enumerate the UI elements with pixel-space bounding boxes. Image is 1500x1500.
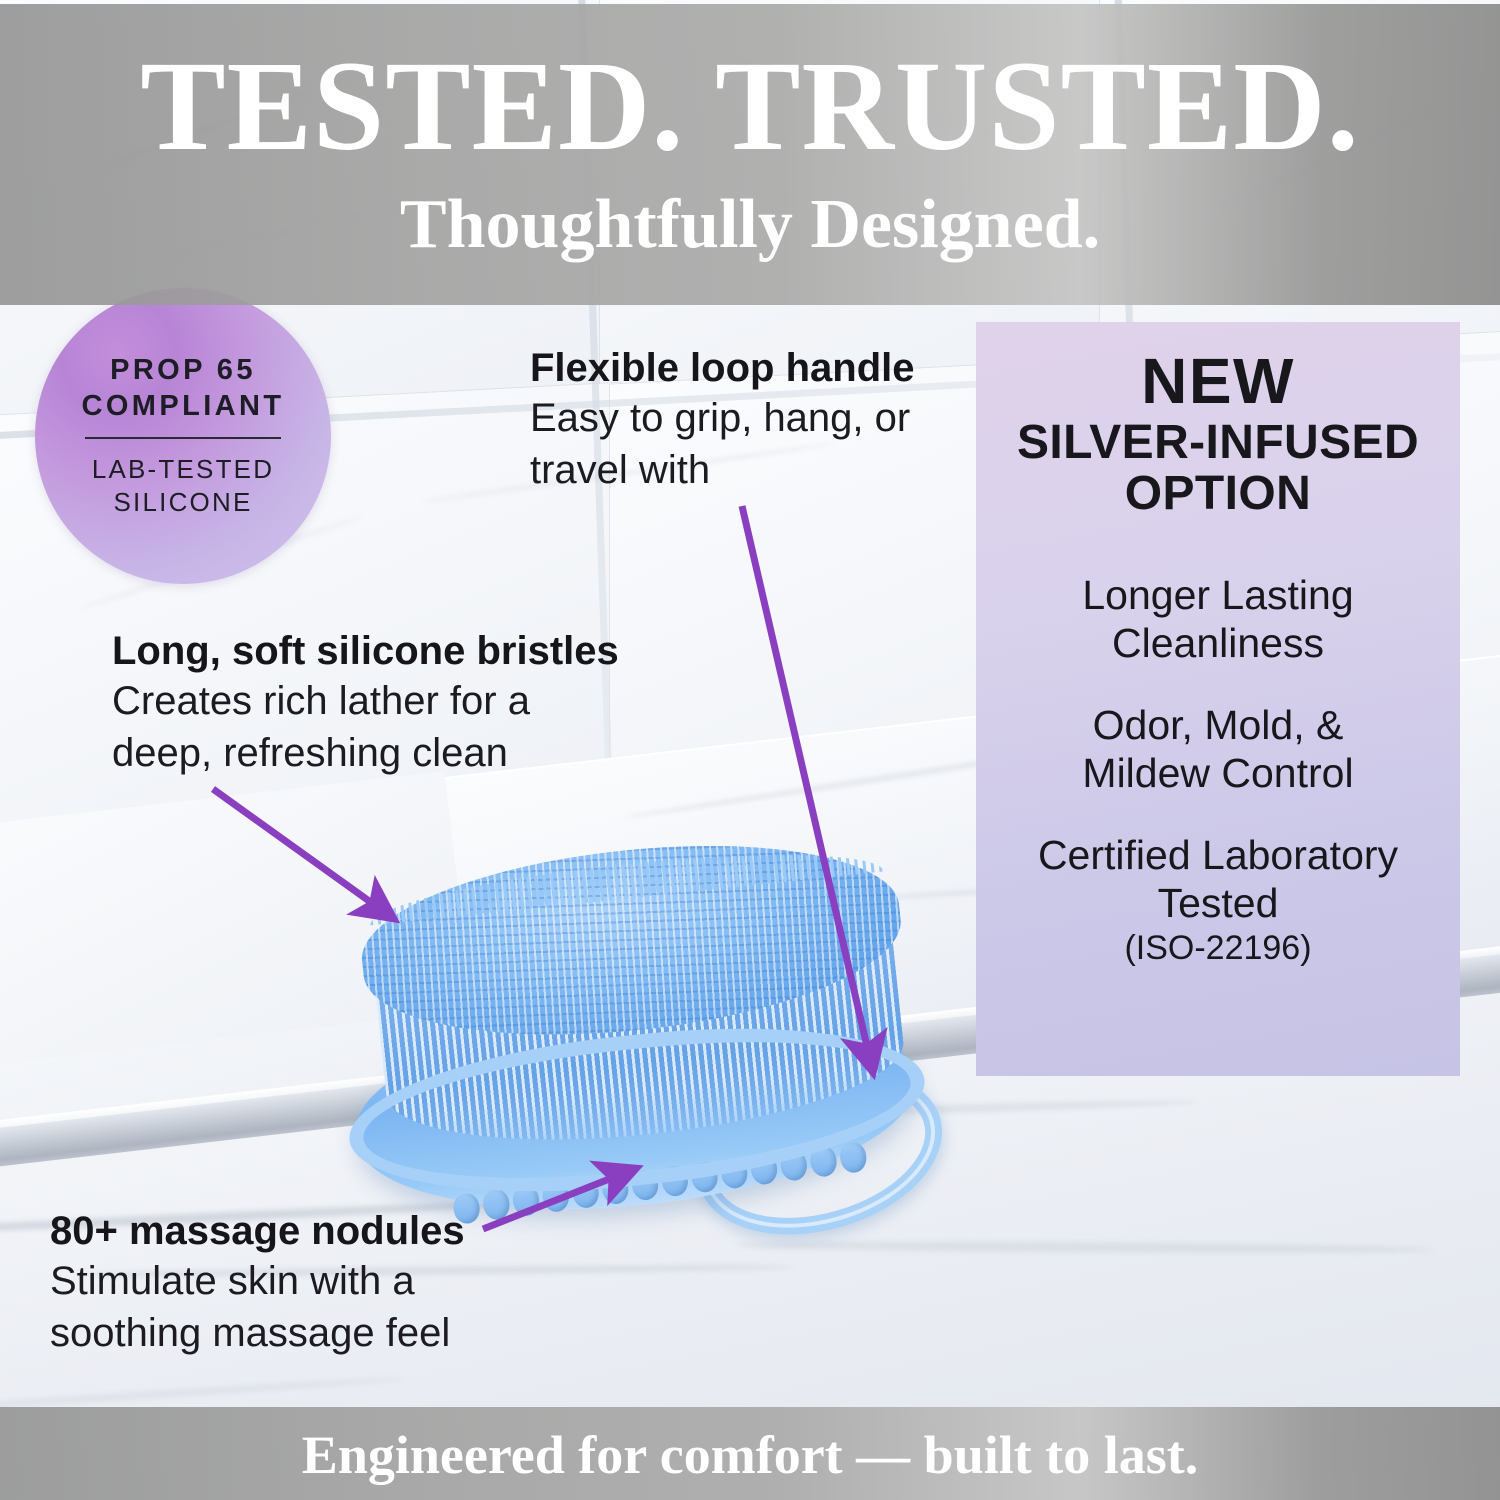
feature-line-2: Cleanliness	[992, 620, 1444, 668]
panel-subheading-line-1: SILVER-INFUSED	[992, 417, 1444, 469]
badge-divider	[85, 437, 281, 439]
feature-line-1: Odor, Mold, &	[992, 702, 1444, 750]
prop-65-compliant-badge: PROP 65 COMPLIANT LAB-TESTED SILICONE	[35, 288, 331, 584]
massage-nodule	[838, 1141, 868, 1174]
footer-tagline: Engineered for comfort — built to last.	[0, 1424, 1500, 1486]
callout-body-line-2: soothing massage feel	[50, 1307, 465, 1359]
badge-heading-line-1: PROP 65	[82, 353, 285, 388]
feature-line-1: Longer Lasting	[992, 572, 1444, 620]
page-headline: TESTED. TRUSTED.	[0, 42, 1500, 170]
callout-title: Flexible loop handle	[530, 345, 915, 392]
badge-subtext-line-2: SILICONE	[92, 486, 274, 519]
feature-line-2: Tested	[992, 880, 1444, 928]
callout-silicone-bristles: Long, soft silicone bristles Creates ric…	[112, 628, 619, 779]
massage-nodule	[482, 1188, 512, 1221]
callout-body-line-1: Creates rich lather for a	[112, 675, 619, 727]
panel-feature-item: Longer Lasting Cleanliness	[992, 572, 1444, 668]
badge-subtext-line-1: LAB-TESTED	[92, 453, 274, 486]
callout-title: 80+ massage nodules	[50, 1208, 465, 1255]
panel-feature-item: Odor, Mold, & Mildew Control	[992, 702, 1444, 798]
badge-subtext: LAB-TESTED SILICONE	[78, 453, 288, 519]
badge-heading-line-2: COMPLIANT	[82, 389, 285, 424]
silicone-body-scrubber-product	[330, 820, 970, 1250]
callout-body-line-1: Stimulate skin with a	[50, 1255, 465, 1307]
callout-flexible-loop-handle: Flexible loop handle Easy to grip, hang,…	[530, 345, 915, 496]
panel-feature-item: Certified Laboratory Tested (ISO-22196)	[992, 832, 1444, 969]
callout-body-line-2: deep, refreshing clean	[112, 727, 619, 779]
feature-line-2: Mildew Control	[992, 750, 1444, 798]
page-subheadline: Thoughtfully Designed.	[0, 190, 1500, 260]
callout-massage-nodules: 80+ massage nodules Stimulate skin with …	[50, 1208, 465, 1359]
badge-heading: PROP 65 COMPLIANT	[68, 353, 299, 424]
callout-body-line-1: Easy to grip, hang, or	[530, 392, 915, 444]
feature-line-1: Certified Laboratory	[992, 832, 1444, 880]
panel-feature-list: Longer Lasting Cleanliness Odor, Mold, &…	[992, 572, 1444, 969]
feature-iso-note: (ISO-22196)	[992, 928, 1444, 969]
panel-heading: NEW	[992, 348, 1444, 415]
callout-title: Long, soft silicone bristles	[112, 628, 619, 675]
callout-body-line-2: travel with	[530, 444, 915, 496]
silver-infused-option-panel: NEW SILVER-INFUSED OPTION Longer Lasting…	[976, 322, 1460, 1076]
infographic-canvas: Flexible loop handle Easy to grip, hang,…	[0, 0, 1500, 1500]
panel-subheading-line-2: OPTION	[992, 468, 1444, 520]
